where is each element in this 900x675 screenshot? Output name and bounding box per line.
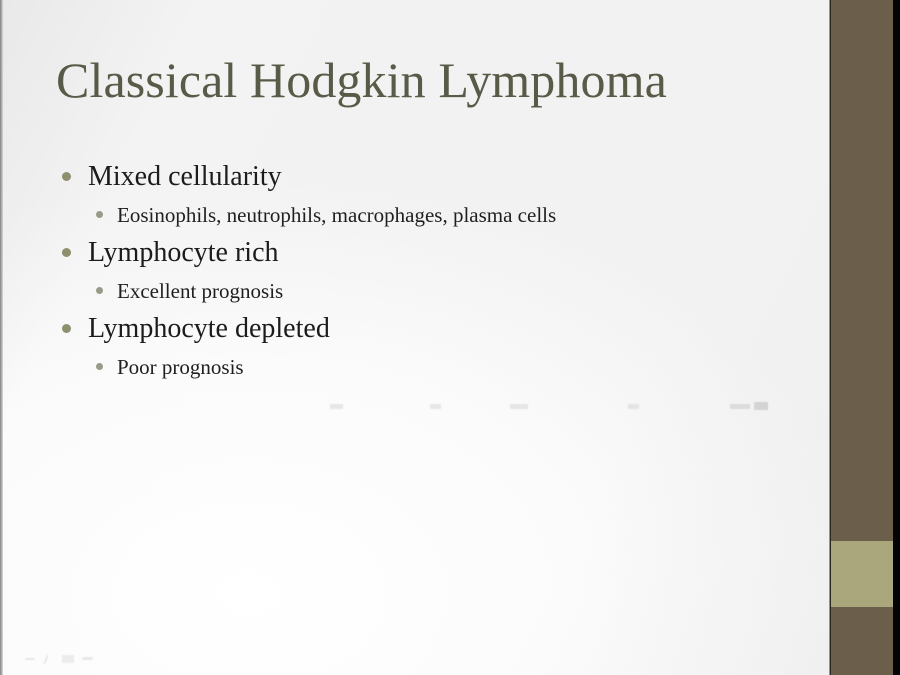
list-item: Lymphocyte rich <box>56 234 796 272</box>
bullet-text: Excellent prognosis <box>117 274 283 308</box>
dot-subbullet-icon <box>96 287 103 294</box>
list-item: Lymphocyte depleted <box>56 310 796 348</box>
bullet-text: Eosinophils, neutrophils, macrophages, p… <box>117 198 556 232</box>
slide-right-frame <box>893 0 900 675</box>
dot-bullet-icon <box>62 172 71 181</box>
presentation-slide: Classical Hodgkin Lymphoma Mixed cellula… <box>0 0 900 675</box>
bullet-text: Lymphocyte rich <box>88 234 279 272</box>
list-item: Eosinophils, neutrophils, macrophages, p… <box>56 198 796 232</box>
slide-sidebar-accent-band <box>831 541 893 607</box>
list-item: Mixed cellularity <box>56 158 796 196</box>
bullet-text: Lymphocyte depleted <box>88 310 330 348</box>
slide-left-edge-line <box>0 0 3 675</box>
bullet-text: Poor prognosis <box>117 350 244 384</box>
bullet-text: Mixed cellularity <box>88 158 282 196</box>
dot-bullet-icon <box>62 324 71 333</box>
list-item: Excellent prognosis <box>56 274 796 308</box>
dot-subbullet-icon <box>96 363 103 370</box>
slide-body-content: Mixed cellularity Eosinophils, neutrophi… <box>56 158 796 386</box>
dot-bullet-icon <box>62 248 71 257</box>
dot-subbullet-icon <box>96 211 103 218</box>
list-item: Poor prognosis <box>56 350 796 384</box>
slide-title: Classical Hodgkin Lymphoma <box>56 52 796 108</box>
